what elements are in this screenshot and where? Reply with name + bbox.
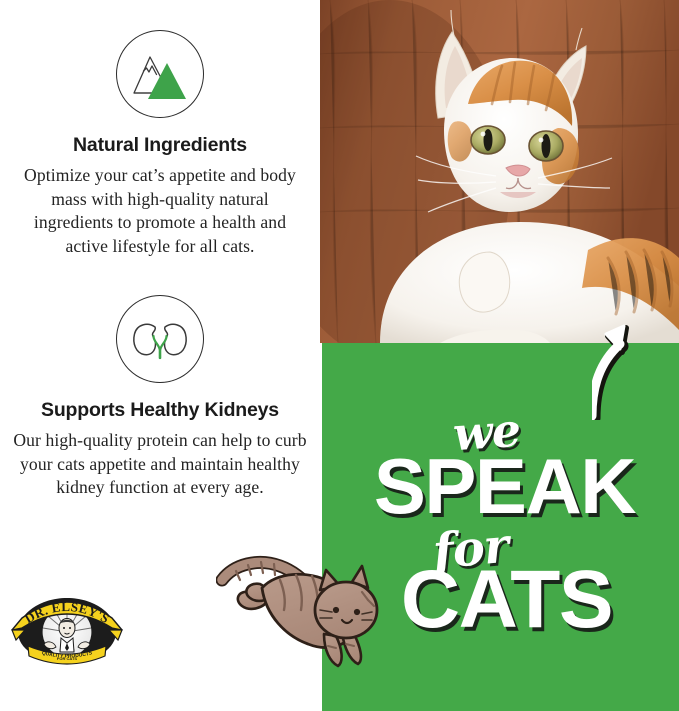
feature-supports-healthy-kidneys: Supports Healthy Kidneys Our high-qualit… [0, 295, 320, 500]
feature-natural-ingredients: Natural Ingredients Optimize your cat’s … [0, 30, 320, 258]
jumping-tabby-cat-illustration [216, 548, 396, 670]
feature-body: Our high-quality protein can help to cur… [0, 429, 320, 499]
orange-white-cat-photo [320, 0, 679, 343]
mountain-icon [116, 30, 204, 118]
feature-title: Supports Healthy Kidneys [0, 400, 320, 421]
dr-elseys-logo: DR. ELSEY'S QUALITY PRODUCTS FOR CATS [8, 588, 126, 666]
logo-ribbon-subtext: FOR CATS [57, 656, 77, 661]
feature-title: Natural Ingredients [0, 135, 320, 156]
feature-body: Optimize your cat’s appetite and body ma… [0, 164, 320, 258]
kidneys-icon [116, 295, 204, 383]
